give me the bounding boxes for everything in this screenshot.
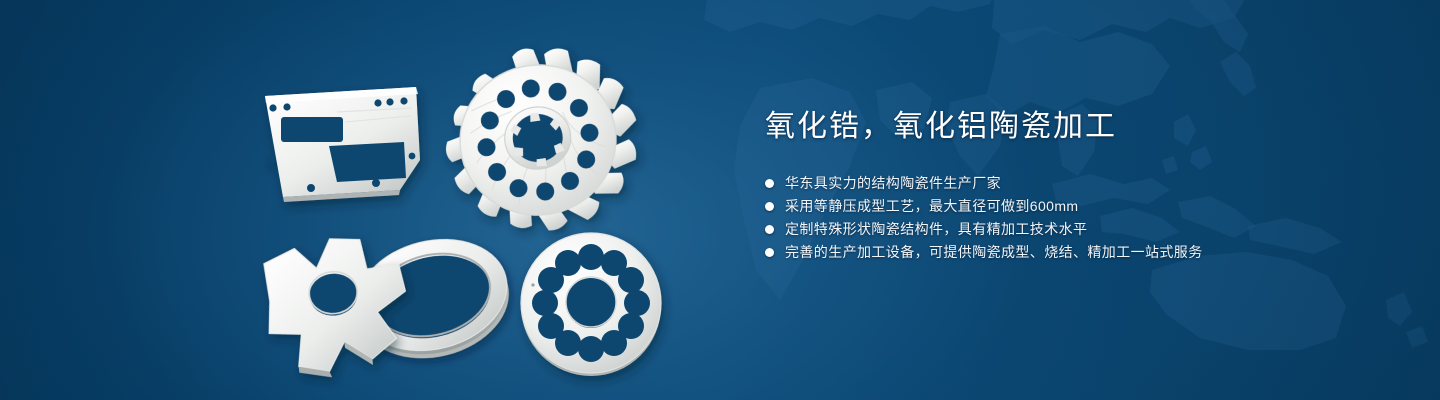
ceramic-impeller-disc-shape — [433, 35, 649, 244]
bullet-dot-icon — [765, 248, 774, 257]
product-photo-group — [0, 0, 720, 400]
page-title: 氧化锆，氧化铝陶瓷加工 — [765, 108, 1385, 146]
list-item: 定制特殊形状陶瓷结构件，具有精加工技术水平 — [765, 218, 1385, 241]
list-item-label: 华东具实力的结构陶瓷件生产厂家 — [785, 172, 1001, 195]
list-item: 采用等静压成型工艺，最大直径可做到600mm — [765, 195, 1385, 218]
ceramic-flat-plate-shape — [265, 87, 420, 202]
list-item: 华东具实力的结构陶瓷件生产厂家 — [765, 172, 1385, 195]
list-item-label: 定制特殊形状陶瓷结构件，具有精加工技术水平 — [785, 218, 1087, 241]
bullet-dot-icon — [765, 225, 774, 234]
bullet-dot-icon — [765, 202, 774, 211]
ceramic-perforated-disc-shape — [521, 233, 661, 376]
list-item: 完善的生产加工设备，可提供陶瓷成型、烧结、精加工一站式服务 — [765, 241, 1385, 264]
list-item-label: 完善的生产加工设备，可提供陶瓷成型、烧结、精加工一站式服务 — [785, 241, 1203, 264]
list-item-label: 采用等静压成型工艺，最大直径可做到600mm — [785, 195, 1078, 218]
hero-banner: 氧化锆，氧化铝陶瓷加工 华东具实力的结构陶瓷件生产厂家 采用等静压成型工艺，最大… — [0, 0, 1440, 400]
feature-list: 华东具实力的结构陶瓷件生产厂家 采用等静压成型工艺，最大直径可做到600mm 定… — [765, 172, 1385, 264]
hero-copy: 氧化锆，氧化铝陶瓷加工 华东具实力的结构陶瓷件生产厂家 采用等静压成型工艺，最大… — [765, 108, 1385, 264]
bullet-dot-icon — [765, 179, 774, 188]
